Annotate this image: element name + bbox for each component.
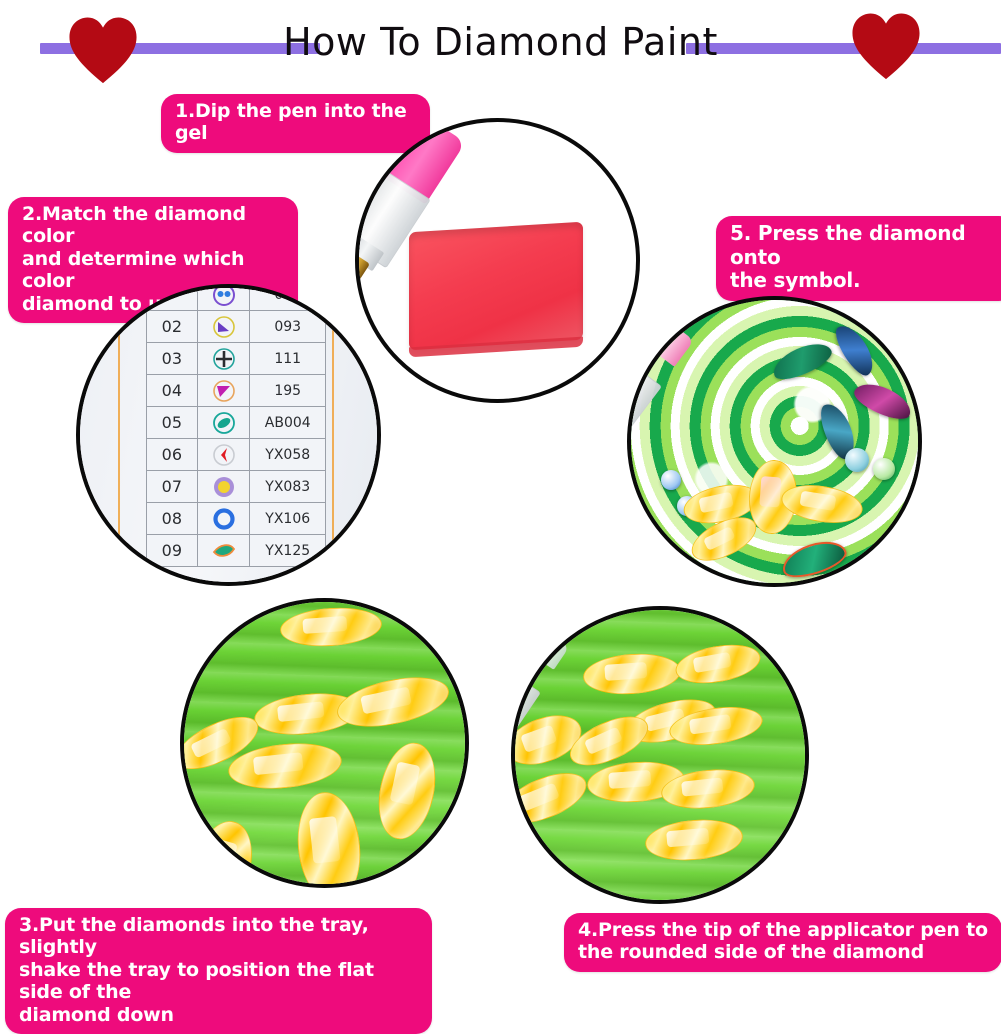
gem-round (845, 448, 869, 472)
step-3-photo (180, 598, 469, 888)
step-2-photo: 028 02 093 03 111 04 (76, 284, 381, 586)
diamond-tray-scene (184, 602, 465, 884)
green-leaf-icon (197, 535, 250, 567)
chart-no: 08 (147, 503, 198, 535)
chart-no: 09 (147, 535, 198, 567)
step-4-line-2: the rounded side of the diamond (578, 941, 988, 963)
table-row-partial: 028 (147, 284, 326, 311)
table-row: 09 YX125 (147, 535, 326, 567)
chart-code: 028 (250, 284, 326, 311)
chart-margin-line-right (332, 288, 334, 582)
blue-eyes-icon (197, 284, 250, 311)
table-row: 06 YX058 (147, 439, 326, 471)
plus-cross-icon (197, 343, 250, 375)
blue-ring-icon (197, 503, 250, 535)
chart-no: 02 (147, 311, 198, 343)
chart-no: 04 (147, 375, 198, 407)
infographic-canvas: How To Diamond Paint 1.Dip the pen into … (0, 0, 1001, 1001)
step-5-caption: 5. Press the diamond onto the symbol. (716, 216, 1001, 301)
chart-no (147, 284, 198, 311)
step-4-caption: 4.Press the tip of the applicator pen to… (564, 913, 1001, 972)
chart-code: 093 (250, 311, 326, 343)
mosaic-scene (631, 300, 918, 583)
gem-round (661, 470, 681, 490)
chart-code: YX106 (250, 503, 326, 535)
page-title: How To Diamond Paint (0, 20, 1001, 64)
color-chart-table: 028 02 093 03 111 04 (146, 284, 326, 567)
step-5-photo (627, 296, 922, 587)
chart-no: 07 (147, 471, 198, 503)
step-5-line-2: the symbol. (730, 269, 1001, 293)
chart-code: AB004 (250, 407, 326, 439)
step-3-line-3: diamond down (19, 1004, 418, 1026)
step-1-photo (355, 118, 640, 403)
step-5-line-1: 5. Press the diamond onto (730, 222, 1001, 269)
step-4-line-1: 4.Press the tip of the applicator pen to (578, 919, 988, 941)
step-3-caption: 3.Put the diamonds into the tray, slight… (5, 908, 432, 1034)
gel-pad (409, 222, 583, 351)
step-3-line-1: 3.Put the diamonds into the tray, slight… (19, 914, 418, 959)
table-row: 07 YX083 (147, 471, 326, 503)
chart-code: YX058 (250, 439, 326, 471)
chart-no: 05 (147, 407, 198, 439)
triangle-purple-icon (197, 311, 250, 343)
chart-code: YX083 (250, 471, 326, 503)
gem-round (873, 458, 895, 480)
table-row: 05 AB004 (147, 407, 326, 439)
chart-code: 111 (250, 343, 326, 375)
chart-code: YX125 (250, 535, 326, 567)
step-2-line-1: 2.Match the diamond color (22, 203, 284, 248)
chart-margin-line-left (118, 288, 120, 582)
pen-gel-scene (359, 122, 636, 399)
step-3-line-2: shake the tray to position the flat side… (19, 959, 418, 1004)
table-row: 04 195 (147, 375, 326, 407)
chart-no: 06 (147, 439, 198, 471)
pen-pickup-scene (515, 610, 805, 900)
table-row: 02 093 (147, 311, 326, 343)
step-4-photo (511, 606, 809, 904)
table-row: 08 YX106 (147, 503, 326, 535)
red-chevron-icon (197, 439, 250, 471)
teal-oval-icon (197, 407, 250, 439)
color-chart-scene: 028 02 093 03 111 04 (80, 288, 377, 582)
triangle-magenta-icon (197, 375, 250, 407)
table-row: 03 111 (147, 343, 326, 375)
chart-code: 195 (250, 375, 326, 407)
chart-no: 03 (147, 343, 198, 375)
yellow-dot-icon (197, 471, 250, 503)
